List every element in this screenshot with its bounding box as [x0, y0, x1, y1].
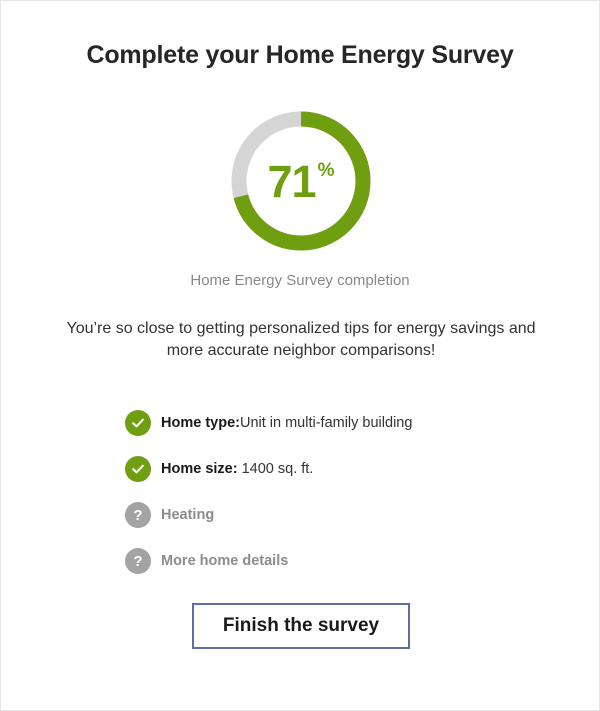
list-item[interactable]: ? More home details [125, 538, 485, 584]
question-mark-glyph: ? [133, 508, 142, 523]
progress-percent-symbol: % [318, 161, 335, 180]
list-item-value: 1400 sq. ft. [238, 461, 314, 477]
list-item-text: Home type:Unit in multi-family building [161, 415, 412, 431]
list-item-text: Heating [161, 507, 214, 523]
finish-survey-button[interactable]: Finish the survey [192, 603, 410, 649]
list-item[interactable]: ? Heating [125, 492, 485, 538]
page-title: Complete your Home Energy Survey [1, 41, 599, 70]
list-item-value: Unit in multi-family building [240, 415, 412, 431]
list-item-label: Home size: [161, 461, 238, 477]
question-mark-glyph: ? [133, 554, 142, 569]
progress-caption: Home Energy Survey completion [1, 272, 599, 289]
check-circle-icon [125, 410, 151, 436]
list-item-label: More home details [161, 553, 288, 569]
question-circle-icon: ? [125, 548, 151, 574]
list-item[interactable]: Home type:Unit in multi-family building [125, 400, 485, 446]
survey-completion-card: Complete your Home Energy Survey 71% Hom… [0, 0, 600, 711]
list-item-text: Home size: 1400 sq. ft. [161, 461, 313, 477]
check-circle-icon [125, 456, 151, 482]
question-circle-icon: ? [125, 502, 151, 528]
list-item-text: More home details [161, 553, 288, 569]
survey-checklist: Home type:Unit in multi-family building … [125, 400, 485, 584]
progress-ring: 71% [231, 111, 371, 251]
progress-ring-label: 71% [231, 111, 371, 251]
list-item[interactable]: Home size: 1400 sq. ft. [125, 446, 485, 492]
encouragement-text: You’re so close to getting personalized … [61, 318, 541, 362]
list-item-label: Heating [161, 507, 214, 523]
list-item-label: Home type: [161, 415, 240, 431]
progress-value: 71 [268, 159, 316, 204]
